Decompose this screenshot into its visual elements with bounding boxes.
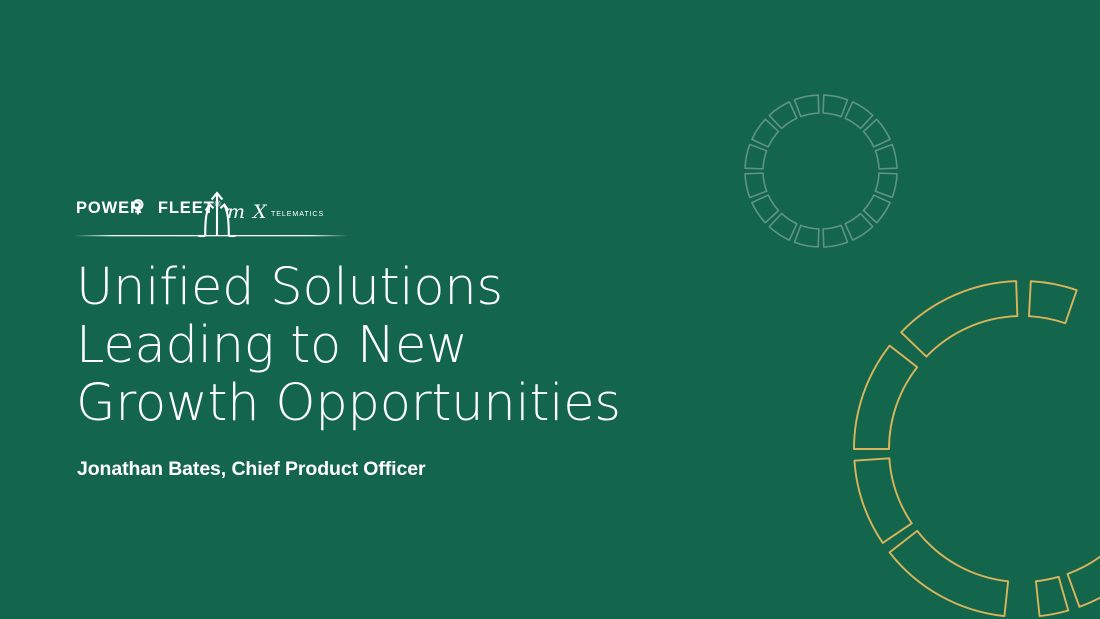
- title-line-3: Growth Opportunities: [76, 375, 696, 433]
- presenter-name-and-title: Jonathan Bates, Chief Product Officer: [77, 458, 425, 481]
- powerfleet-circle-mark-icon: [131, 199, 145, 215]
- brand-logo-lockup: POWERFLEET®: [74, 186, 349, 244]
- mix-script-wordmark: m X: [227, 203, 268, 222]
- title-line-1: Unified Solutions: [76, 259, 696, 317]
- segmented-ring-teal-icon: [745, 95, 897, 247]
- title-slide: POWERFLEET®: [0, 0, 1100, 619]
- title-line-2: Leading to New: [76, 317, 696, 375]
- logo-row: POWERFLEET®: [74, 186, 349, 234]
- segmented-ring-gold-icon: [854, 281, 1100, 616]
- page-title: Unified Solutions Leading to New Growth …: [76, 259, 696, 433]
- telematics-tagline: TELEMATICS: [271, 210, 324, 217]
- logo-underline-divider: [74, 234, 349, 237]
